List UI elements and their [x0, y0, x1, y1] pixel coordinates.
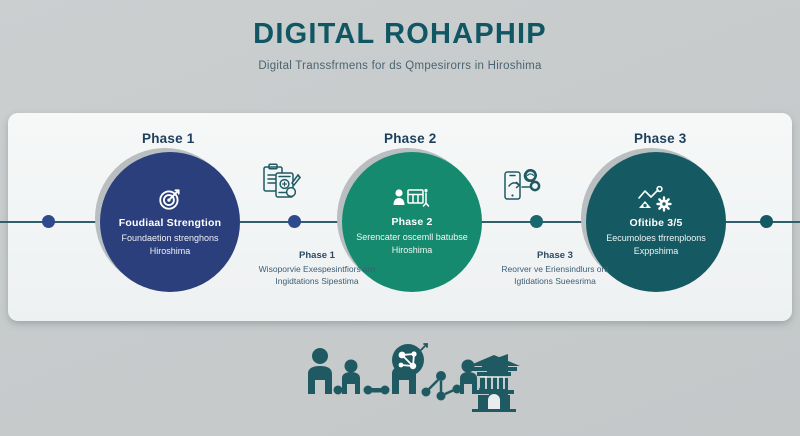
pagoda-icon: [466, 352, 522, 412]
connector-caption-1: Phase 1 Wisoporvie Exespesintfiors orn I…: [258, 250, 376, 288]
header: DIGITAL ROHAPHIP Digital Transsfrmens fo…: [0, 18, 800, 72]
phase-1-disc[interactable]: Foudiaal Strengtion Foundaetion strengho…: [100, 152, 240, 292]
network-badge-icon: [388, 340, 428, 380]
connector-caption-2-body: Reorver ve Eriensindlurs ont Igtidations…: [496, 263, 614, 288]
phone-cloud-gear-icon: [502, 162, 544, 204]
connector-caption-2-title: Phase 3: [496, 250, 614, 261]
phase-1-description: Foundaetion strenghons Hiroshima: [114, 232, 226, 258]
growth-gear-icon: [636, 186, 676, 212]
page-subtitle: Digital Transsfrmens for ds Qmpesirorrs …: [0, 60, 800, 72]
phase-label-1: Phase 1: [142, 131, 194, 146]
target-arrow-icon: [157, 186, 183, 212]
timeline-dot-between-2-3: [530, 215, 543, 228]
phase-2-title: Phase 2: [391, 216, 432, 228]
timeline-dot-end: [760, 215, 773, 228]
connector-caption-1-body: Wisoporvie Exespesintfiors orn Ingidtati…: [258, 263, 376, 288]
clipboard-phone-icon: [262, 162, 302, 204]
people-data-icon: [392, 187, 432, 211]
timeline-dot-between-1-2: [288, 215, 301, 228]
phase-label-3: Phase 3: [634, 131, 686, 146]
page-title: DIGITAL ROHAPHIP: [0, 18, 800, 51]
phase-label-2: Phase 2: [384, 131, 436, 146]
phase-3-description: Eecumoloes tfrrenploons Exppshima: [600, 232, 712, 258]
phase-node-1[interactable]: Foudiaal Strengtion Foundaetion strengho…: [100, 152, 240, 292]
phase-3-title: Ofitibe 3/5: [630, 217, 683, 229]
phase-1-title: Foudiaal Strengtion: [119, 217, 221, 229]
connector-caption-1-title: Phase 1: [258, 250, 376, 261]
infographic-canvas: DIGITAL ROHAPHIP Digital Transsfrmens fo…: [0, 0, 800, 436]
timeline-dot-start: [42, 215, 55, 228]
connector-caption-2: Phase 3 Reorver ve Eriensindlurs ont Igt…: [496, 250, 614, 288]
